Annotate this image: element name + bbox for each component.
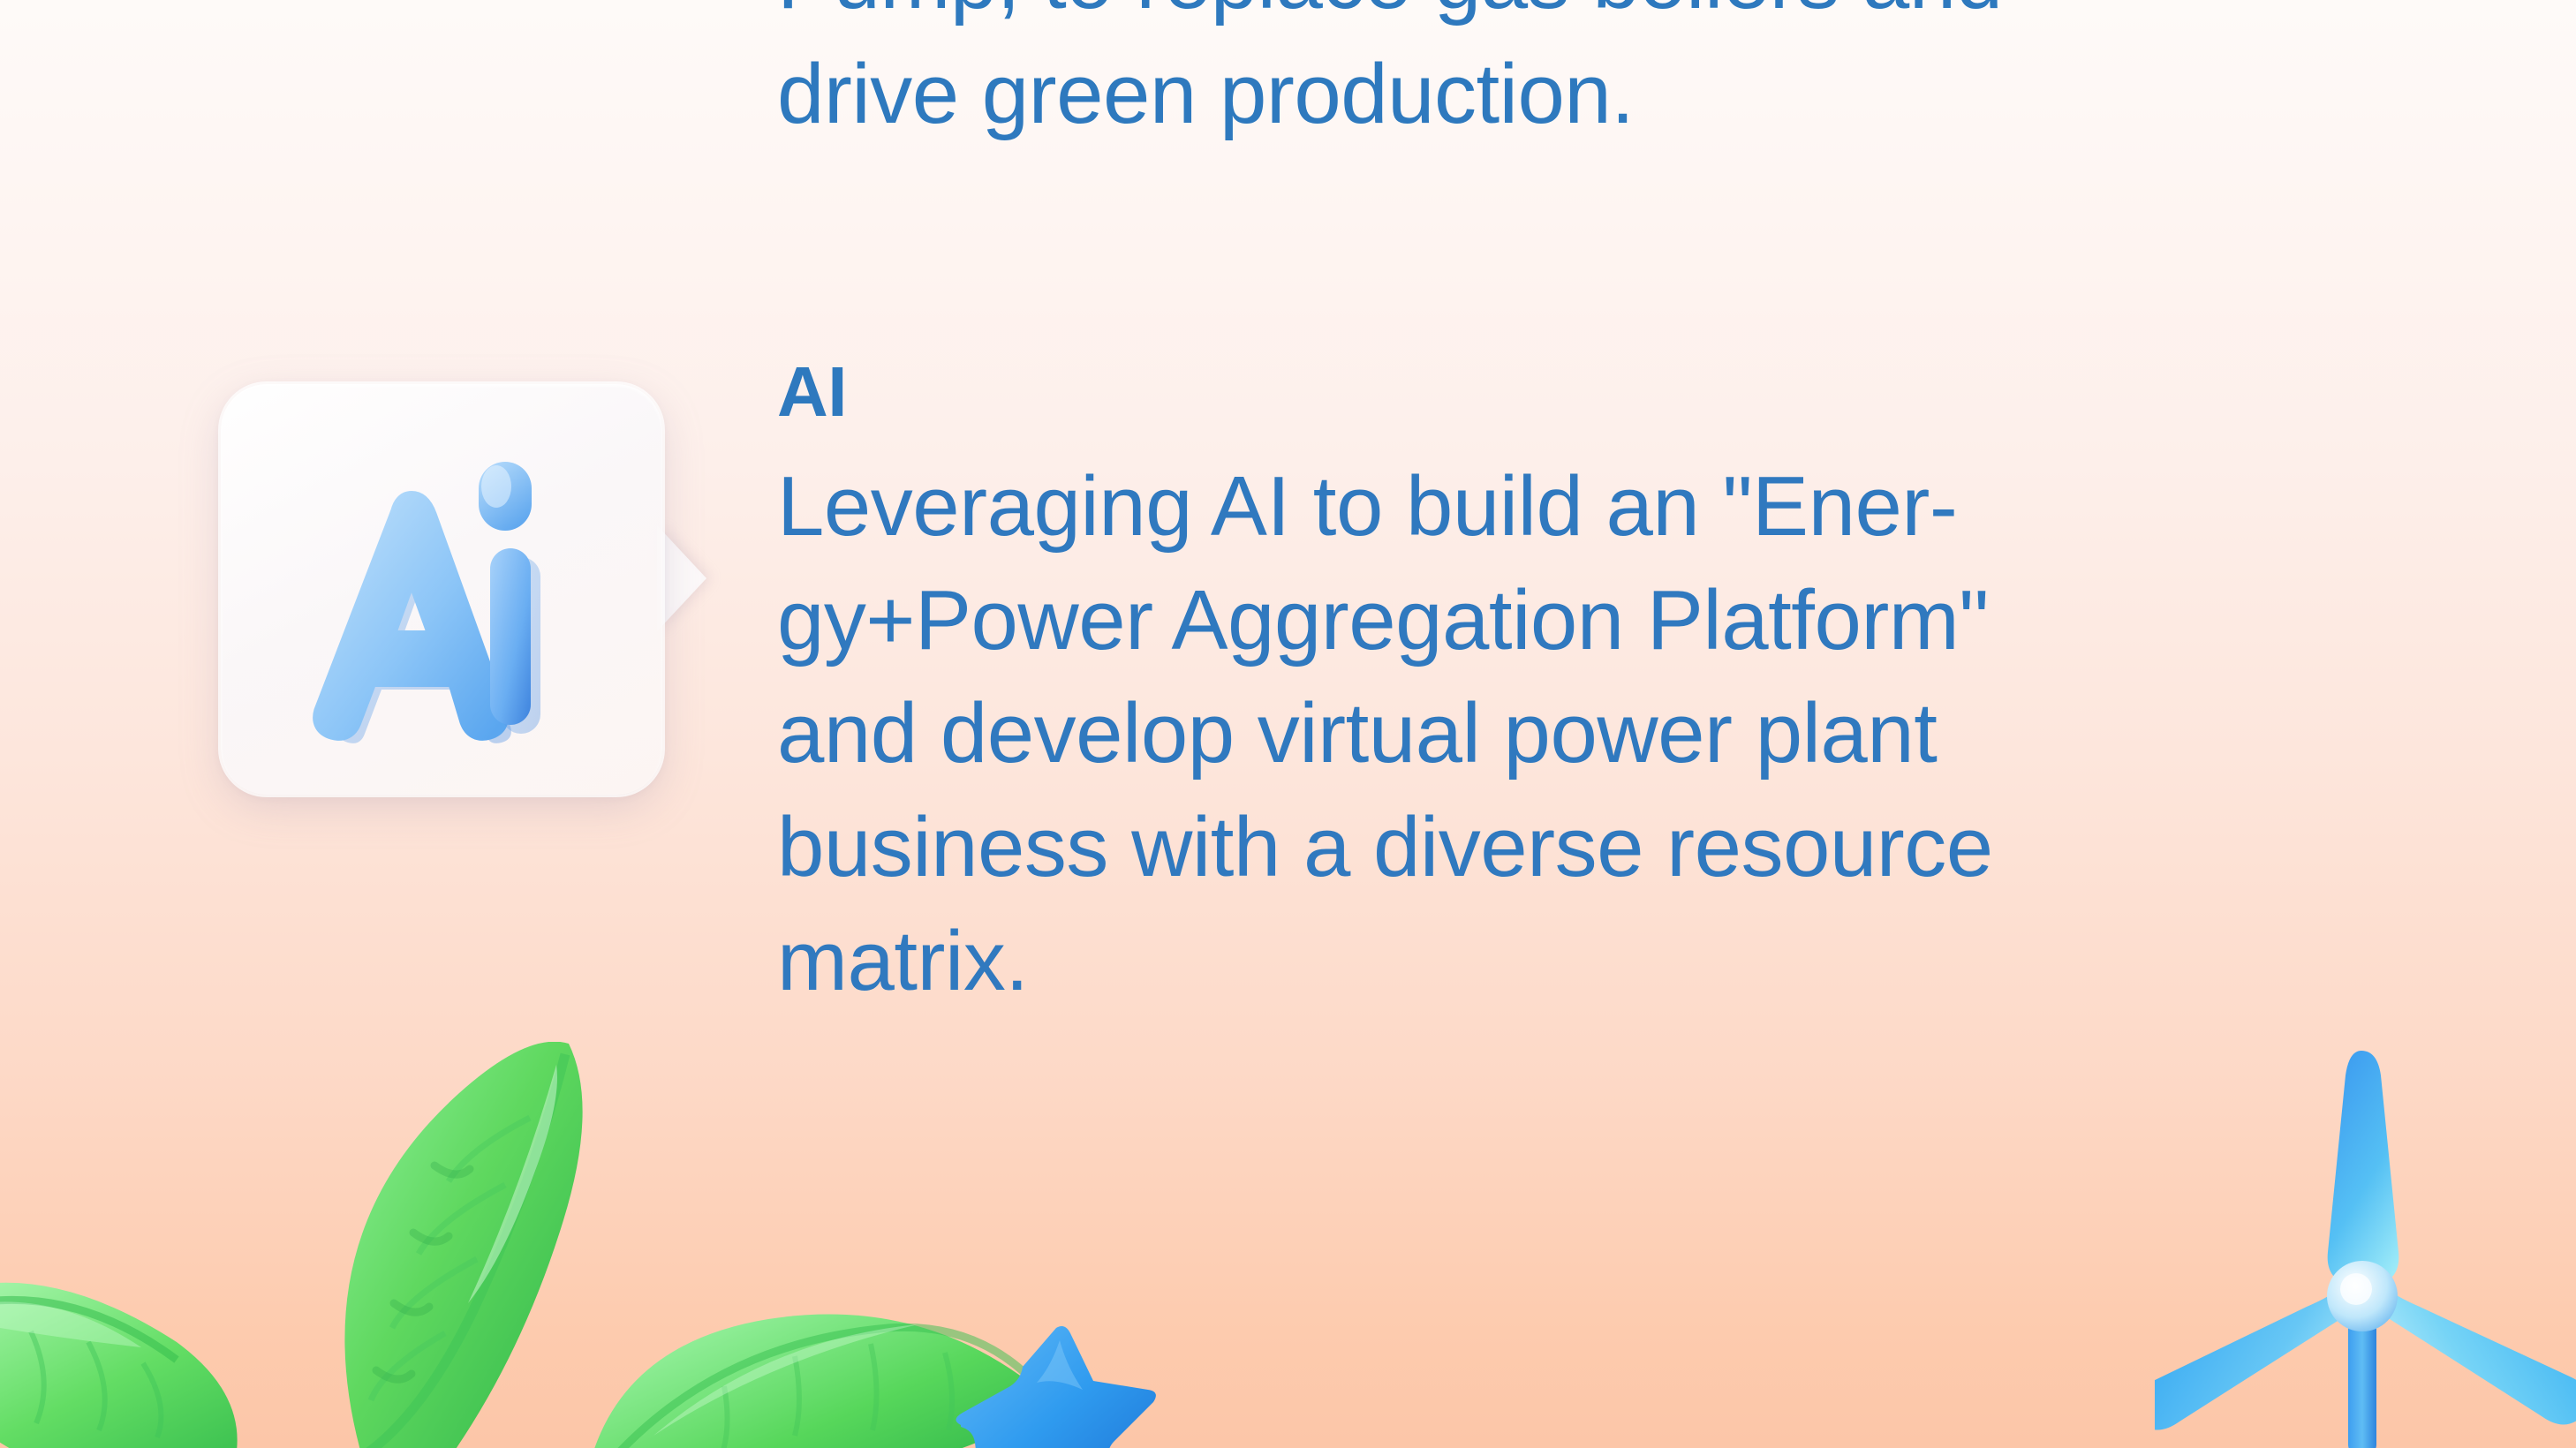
bubble-tail-icon bbox=[657, 525, 706, 631]
ai-icon-card bbox=[221, 384, 662, 795]
blue-star-illustration bbox=[954, 1324, 1175, 1448]
infographic-panel: Pump, to replace gas boilers and drive g… bbox=[0, 0, 2576, 1448]
ai-logo-icon bbox=[221, 384, 662, 795]
ai-icon-bubble bbox=[221, 384, 662, 795]
ai-body-text: Leveraging AI to build an "Ener- gy+Powe… bbox=[777, 450, 2367, 1018]
green-leaves-illustration bbox=[0, 1042, 1130, 1448]
ai-text-column: AI Leveraging AI to build an "Ener- gy+P… bbox=[777, 353, 2367, 1018]
top-clipped-paragraph: Pump, to replace gas boilers and drive g… bbox=[777, 0, 2331, 151]
wind-turbine-illustration bbox=[2155, 1042, 2576, 1448]
ai-heading: AI bbox=[777, 353, 2367, 431]
